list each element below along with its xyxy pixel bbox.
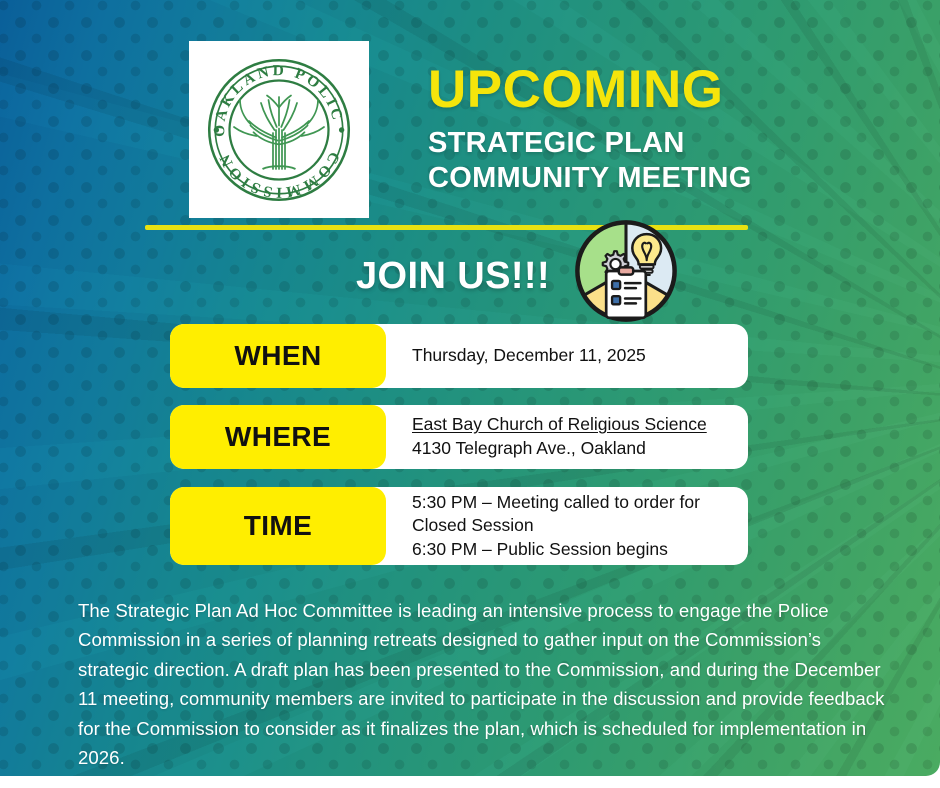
logo-container: OAKLAND POLICE COMMISSION [189, 41, 369, 218]
heading-block: UPCOMING STRATEGIC PLAN COMMUNITY MEETIN… [428, 63, 928, 197]
page-title-line-2: COMMUNITY MEETING [428, 161, 928, 196]
page-title-eyebrow: UPCOMING [428, 63, 928, 116]
info-value-line: East Bay Church of Religious Science [412, 413, 734, 437]
info-row-where: WHERE East Bay Church of Religious Scien… [170, 405, 748, 469]
page-title-line-1: STRATEGIC PLAN [428, 126, 928, 161]
oakland-police-commission-seal-icon: OAKLAND POLICE COMMISSION [204, 55, 354, 205]
body-paragraph: The Strategic Plan Ad Hoc Committee is l… [78, 596, 886, 772]
info-value-time: 5:30 PM – Meeting called to order for Cl… [386, 487, 748, 565]
info-value-line: 5:30 PM – Meeting called to order for [412, 491, 734, 515]
call-to-action-text: JOIN US!!! [356, 255, 550, 298]
clipboard-icon [606, 267, 646, 317]
info-row-time: TIME 5:30 PM – Meeting called to order f… [170, 487, 748, 565]
info-label-when: WHEN [170, 324, 386, 388]
info-value-line: Thursday, December 11, 2025 [412, 344, 734, 368]
strategy-pie-icon [572, 217, 680, 325]
info-value-line: 6:30 PM – Public Session begins [412, 538, 734, 562]
info-value-where: East Bay Church of Religious Science 413… [386, 405, 748, 469]
flyer-canvas: OAKLAND POLICE COMMISSION [0, 0, 940, 788]
info-row-when: WHEN Thursday, December 11, 2025 [170, 324, 748, 388]
info-label-where: WHERE [170, 405, 386, 469]
page-title: STRATEGIC PLAN COMMUNITY MEETING [428, 126, 928, 197]
info-value-when: Thursday, December 11, 2025 [386, 324, 748, 388]
poster-background: OAKLAND POLICE COMMISSION [0, 0, 940, 776]
info-value-line: 4130 Telegraph Ave., Oakland [412, 437, 734, 461]
info-label-time: TIME [170, 487, 386, 565]
info-value-line: Closed Session [412, 514, 734, 538]
